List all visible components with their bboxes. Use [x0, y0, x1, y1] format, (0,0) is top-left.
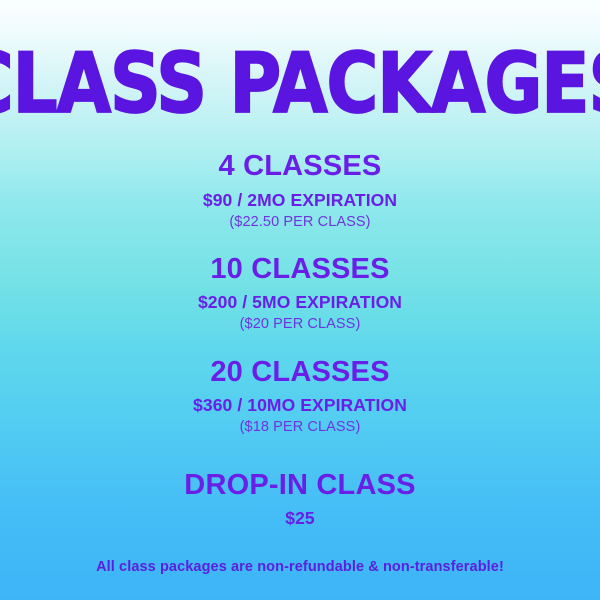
- tier-per-class-rate: ($22.50 PER CLASS): [0, 214, 600, 231]
- pricing-tier-list: 4 CLASSES $90 / 2MO EXPIRATION ($22.50 P…: [0, 150, 600, 529]
- pricing-tier-10-classes: 10 CLASSES $200 / 5MO EXPIRATION ($20 PE…: [0, 253, 600, 334]
- tier-heading: DROP-IN CLASS: [0, 469, 600, 501]
- tier-price: $90 / 2MO EXPIRATION: [0, 190, 600, 211]
- tier-heading: 4 CLASSES: [0, 150, 600, 182]
- pricing-tier-drop-in-class: DROP-IN CLASS $25: [0, 469, 600, 529]
- tier-heading: 20 CLASSES: [0, 356, 600, 388]
- pricing-tier-4-classes: 4 CLASSES $90 / 2MO EXPIRATION ($22.50 P…: [0, 150, 600, 231]
- pricing-tier-20-classes: 20 CLASSES $360 / 10MO EXPIRATION ($18 P…: [0, 356, 600, 437]
- tier-price: $200 / 5MO EXPIRATION: [0, 292, 600, 313]
- tier-price: $360 / 10MO EXPIRATION: [0, 395, 600, 416]
- tier-per-class-rate: ($18 PER CLASS): [0, 419, 600, 436]
- page-title: CLASS PACKAGES: [0, 46, 600, 122]
- class-packages-poster: CLASS PACKAGES 4 CLASSES $90 / 2MO EXPIR…: [0, 0, 600, 600]
- tier-price: $25: [0, 508, 600, 529]
- tier-heading: 10 CLASSES: [0, 253, 600, 285]
- tier-per-class-rate: ($20 PER CLASS): [0, 316, 600, 333]
- policy-disclaimer: All class packages are non-refundable & …: [96, 559, 504, 575]
